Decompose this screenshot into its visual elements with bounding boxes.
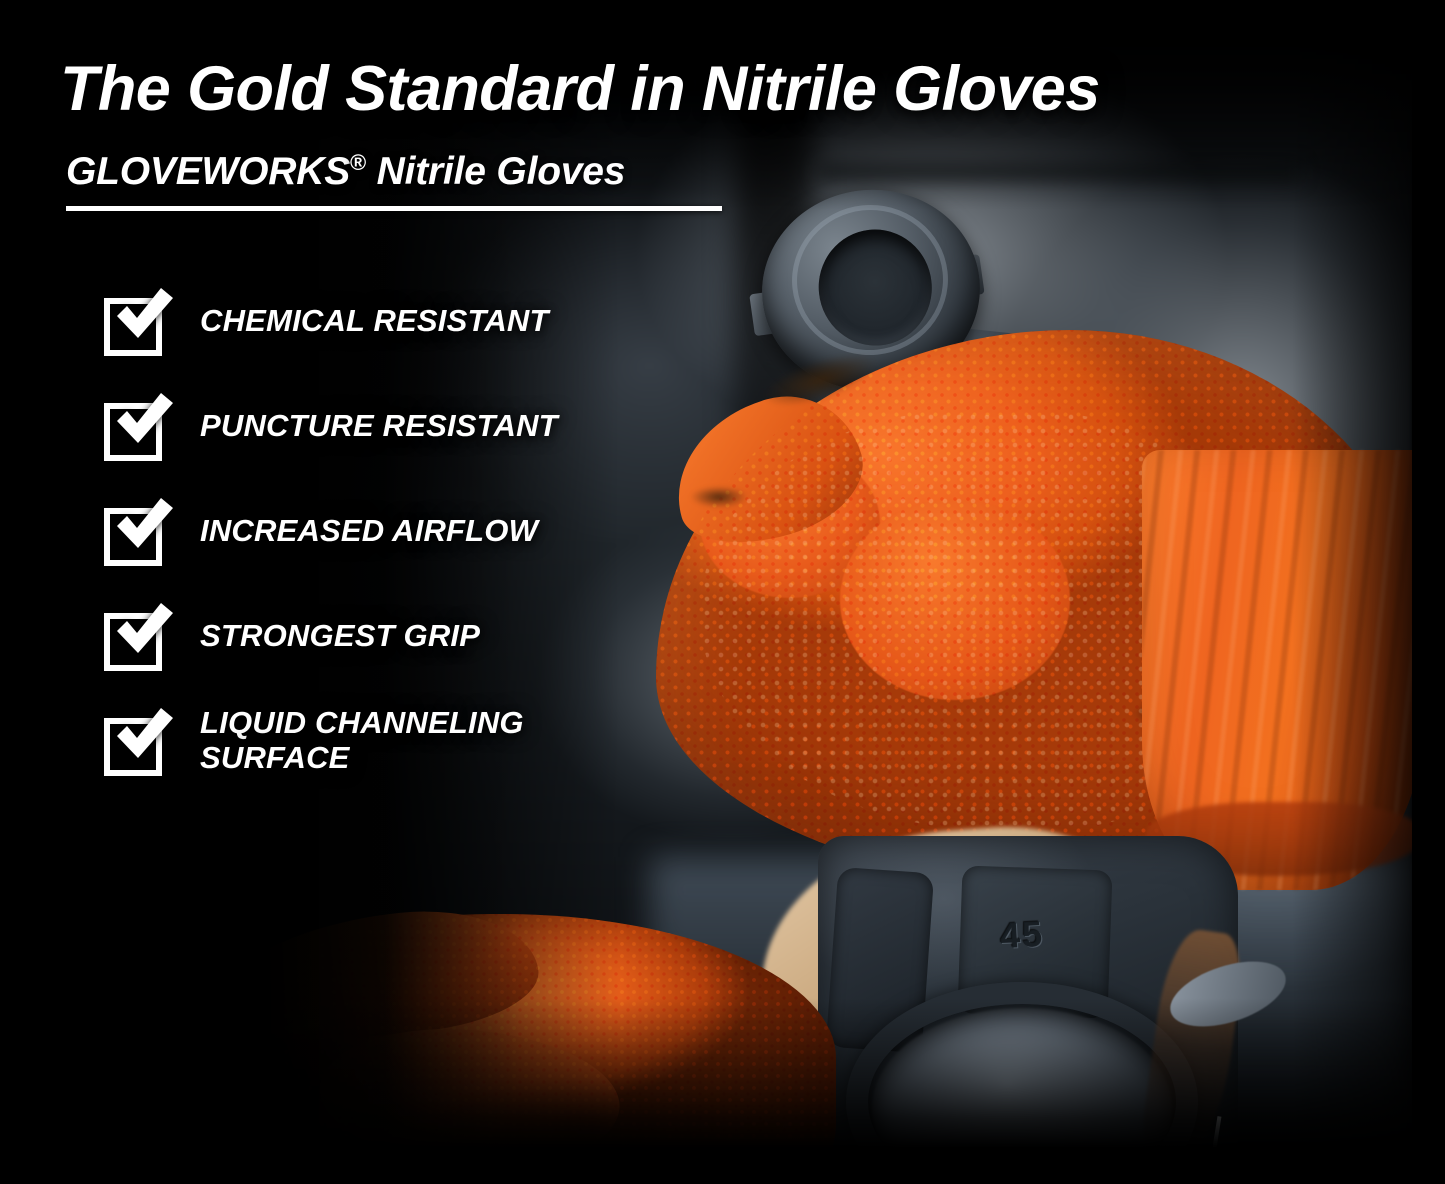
feature-label: STRONGEST GRIP [200, 619, 480, 654]
ball-peen-hammer-head [40, 892, 152, 1000]
page-title: The Gold Standard in Nitrile Gloves [60, 56, 1400, 122]
checkbox-checked-icon[interactable] [104, 292, 162, 350]
feature-item: CHEMICAL RESISTANT [104, 286, 724, 356]
checkmark-icon [111, 288, 173, 346]
feature-label: LIQUID CHANNELING SURFACE [200, 706, 524, 775]
checkmark-icon [111, 708, 173, 766]
right-black-band [1412, 0, 1445, 1184]
part-number-stamp: 45 [999, 913, 1045, 957]
brand-name: GLOVEWORKS [66, 150, 350, 193]
subtitle-underline [66, 206, 722, 211]
registered-trademark-icon: ® [350, 150, 366, 175]
marketing-banner: 45 The Gold Standard in Nitrile Gloves G… [0, 0, 1445, 1184]
checkmark-icon [111, 498, 173, 556]
feature-item: INCREASED AIRFLOW [104, 496, 724, 566]
background-shelf-upper [819, 164, 1299, 180]
feature-list: CHEMICAL RESISTANT PUNCTURE RESISTANT IN… [104, 286, 724, 776]
glove-lower-shadow [420, 1080, 760, 1148]
feature-item: LIQUID CHANNELING SURFACE [104, 706, 724, 776]
product-name: Nitrile Gloves [366, 150, 625, 193]
checkmark-icon [111, 393, 173, 451]
checkbox-checked-icon[interactable] [104, 607, 162, 665]
checkbox-checked-icon[interactable] [104, 502, 162, 560]
feature-label: CHEMICAL RESISTANT [200, 304, 549, 339]
checkbox-checked-icon[interactable] [104, 397, 162, 455]
brand-subtitle: GLOVEWORKS® Nitrile Gloves [66, 150, 722, 194]
brand-subtitle-block: GLOVEWORKS® Nitrile Gloves [66, 150, 722, 211]
feature-item: STRONGEST GRIP [104, 601, 724, 671]
feature-item: PUNCTURE RESISTANT [104, 391, 724, 461]
checkbox-checked-icon[interactable] [104, 712, 162, 770]
bottom-black-band [0, 1148, 1445, 1184]
checkmark-icon [111, 603, 173, 661]
feature-label: INCREASED AIRFLOW [200, 514, 538, 549]
glove-knuckle-right [840, 500, 1070, 700]
feature-label: PUNCTURE RESISTANT [200, 409, 558, 444]
